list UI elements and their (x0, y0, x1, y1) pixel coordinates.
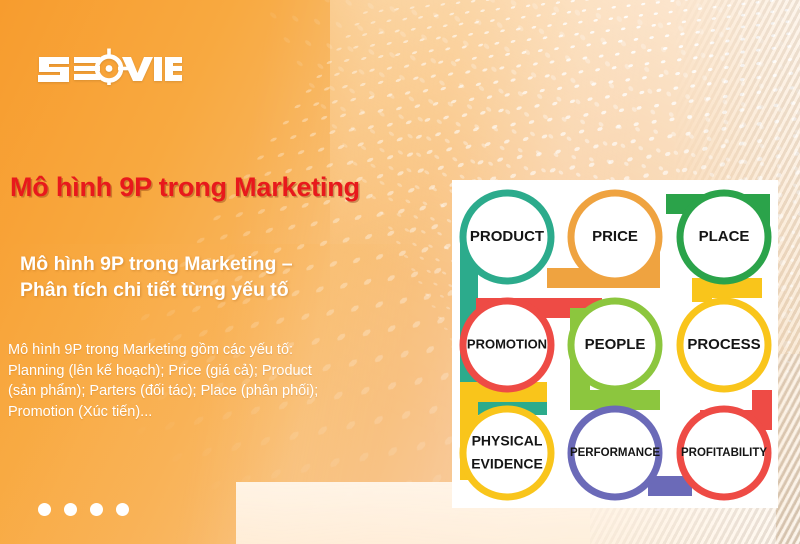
node-label-profitability: PROFITABILITY (681, 447, 767, 459)
pager-dot[interactable] (38, 503, 51, 516)
node-label-promotion: PROMOTION (467, 336, 547, 351)
pager-dot[interactable] (90, 503, 103, 516)
node-label-place: PLACE (699, 228, 750, 245)
node-promotion[interactable]: PROMOTION (463, 301, 551, 389)
node-label-physical-evidence-line-1: PHYSICAL (472, 433, 543, 449)
article-excerpt: Mô hình 9P trong Marketing gồm các yếu t… (8, 340, 408, 422)
node-label-price: PRICE (592, 228, 638, 245)
node-place[interactable]: PLACE (680, 193, 768, 281)
node-label-physical-evidence-line-2: EVIDENCE (471, 456, 543, 472)
node-label-process: PROCESS (687, 336, 760, 353)
carousel-pager[interactable] (38, 503, 129, 516)
nine-p-diagram: PRODUCT PRICE PLACE PROMOTION PEOPLE (452, 180, 778, 508)
article-excerpt-line-3: (sản phẩm); Parters (đối tác); Place (ph… (8, 381, 408, 402)
diagram-nodes: PRODUCT PRICE PLACE PROMOTION PEOPLE (463, 193, 768, 497)
node-performance[interactable]: PERFORMANCE (570, 409, 660, 497)
node-price[interactable]: PRICE (571, 193, 659, 281)
nine-p-diagram-svg: PRODUCT PRICE PLACE PROMOTION PEOPLE (452, 180, 778, 508)
article-excerpt-line-1: Mô hình 9P trong Marketing gồm các yếu t… (8, 340, 408, 361)
node-product[interactable]: PRODUCT (463, 193, 551, 281)
article-subtitle-line-2: Phân tích chi tiết từng yếu tố (20, 278, 420, 304)
node-label-product: PRODUCT (470, 228, 544, 245)
brand-logo[interactable] (36, 44, 182, 86)
slide-canvas: Mô hình 9P trong Marketing Mô hình 9P tr… (0, 0, 800, 544)
article-excerpt-line-4: Promotion (Xúc tiến)... (8, 402, 408, 423)
article-subtitle-line-1: Mô hình 9P trong Marketing – (20, 252, 420, 278)
seoviet-logo-mark (36, 45, 182, 85)
node-people[interactable]: PEOPLE (571, 301, 659, 389)
node-process[interactable]: PROCESS (680, 301, 768, 389)
node-profitability[interactable]: PROFITABILITY (680, 409, 768, 497)
node-label-people: PEOPLE (585, 336, 646, 353)
article-subtitle: Mô hình 9P trong Marketing – Phân tích c… (20, 252, 420, 304)
pager-dot[interactable] (64, 503, 77, 516)
article-excerpt-line-2: Planning (lên kế hoạch); Price (giá cả);… (8, 361, 408, 382)
node-physical-evidence[interactable]: PHYSICAL EVIDENCE (463, 409, 551, 497)
pager-dot[interactable] (116, 503, 129, 516)
page-title: Mô hình 9P trong Marketing (10, 172, 440, 203)
node-label-performance: PERFORMANCE (570, 447, 660, 459)
